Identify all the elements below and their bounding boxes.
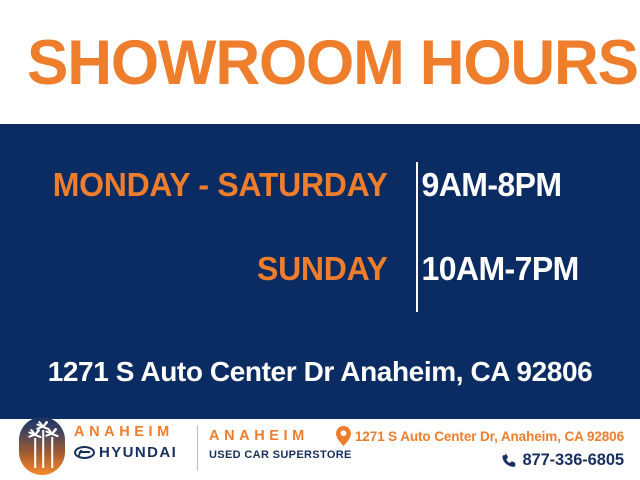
hyundai-h-icon xyxy=(74,446,95,459)
header-band: SHOWROOM HOURS xyxy=(0,0,640,124)
hyundai-brand-row: HYUNDAI xyxy=(74,445,192,460)
logo-divider xyxy=(197,425,198,471)
anaheim-wordmark: ANAHEIM xyxy=(209,429,329,444)
footer-contact-block: 1271 S Auto Center Dr, Anaheim, CA 92806… xyxy=(324,426,624,470)
hours-table: MONDAY - SATURDAY 9AM-8PM SUNDAY 10AM-7P… xyxy=(0,140,640,320)
footer-phone-text: 877-336-6805 xyxy=(522,451,624,470)
address-banner: 1271 S Auto Center Dr Anaheim, CA 92806 xyxy=(0,356,640,388)
footer-bar: ANAHEIM HYUNDAI ANAHEIM USED CAR SUPERST… xyxy=(0,419,640,480)
used-car-superstore-label: USED CAR SUPERSTORE xyxy=(209,450,329,461)
footer-phone-row[interactable]: 877-336-6805 xyxy=(324,451,624,470)
palm-tree-right xyxy=(45,433,59,468)
anaheim-used-car-superstore-logo[interactable]: ANAHEIM USED CAR SUPERSTORE xyxy=(209,429,329,461)
palm-tree-icon xyxy=(19,417,65,475)
footer-address-row[interactable]: 1271 S Auto Center Dr, Anaheim, CA 92806 xyxy=(324,426,624,446)
anaheim-hyundai-logo[interactable]: ANAHEIM HYUNDAI xyxy=(74,425,192,473)
footer-address-text: 1271 S Auto Center Dr, Anaheim, CA 92806 xyxy=(355,429,624,444)
hours-vertical-divider xyxy=(416,162,418,312)
hours-days-label: MONDAY - SATURDAY xyxy=(12,166,405,204)
map-pin-icon xyxy=(336,426,351,446)
page-title: SHOWROOM HOURS xyxy=(27,32,638,95)
hyundai-wordmark: HYUNDAI xyxy=(99,445,177,460)
hours-row: MONDAY - SATURDAY 9AM-8PM xyxy=(0,148,640,222)
hours-panel: MONDAY - SATURDAY 9AM-8PM SUNDAY 10AM-7P… xyxy=(0,124,640,419)
anaheim-wordmark: ANAHEIM xyxy=(74,425,192,440)
phone-icon xyxy=(501,452,517,469)
hours-days-label: SUNDAY xyxy=(12,250,405,288)
hours-time-value: 9AM-8PM xyxy=(405,166,561,204)
hours-time-value: 10AM-7PM xyxy=(405,250,579,288)
hours-row: SUNDAY 10AM-7PM xyxy=(0,232,640,306)
